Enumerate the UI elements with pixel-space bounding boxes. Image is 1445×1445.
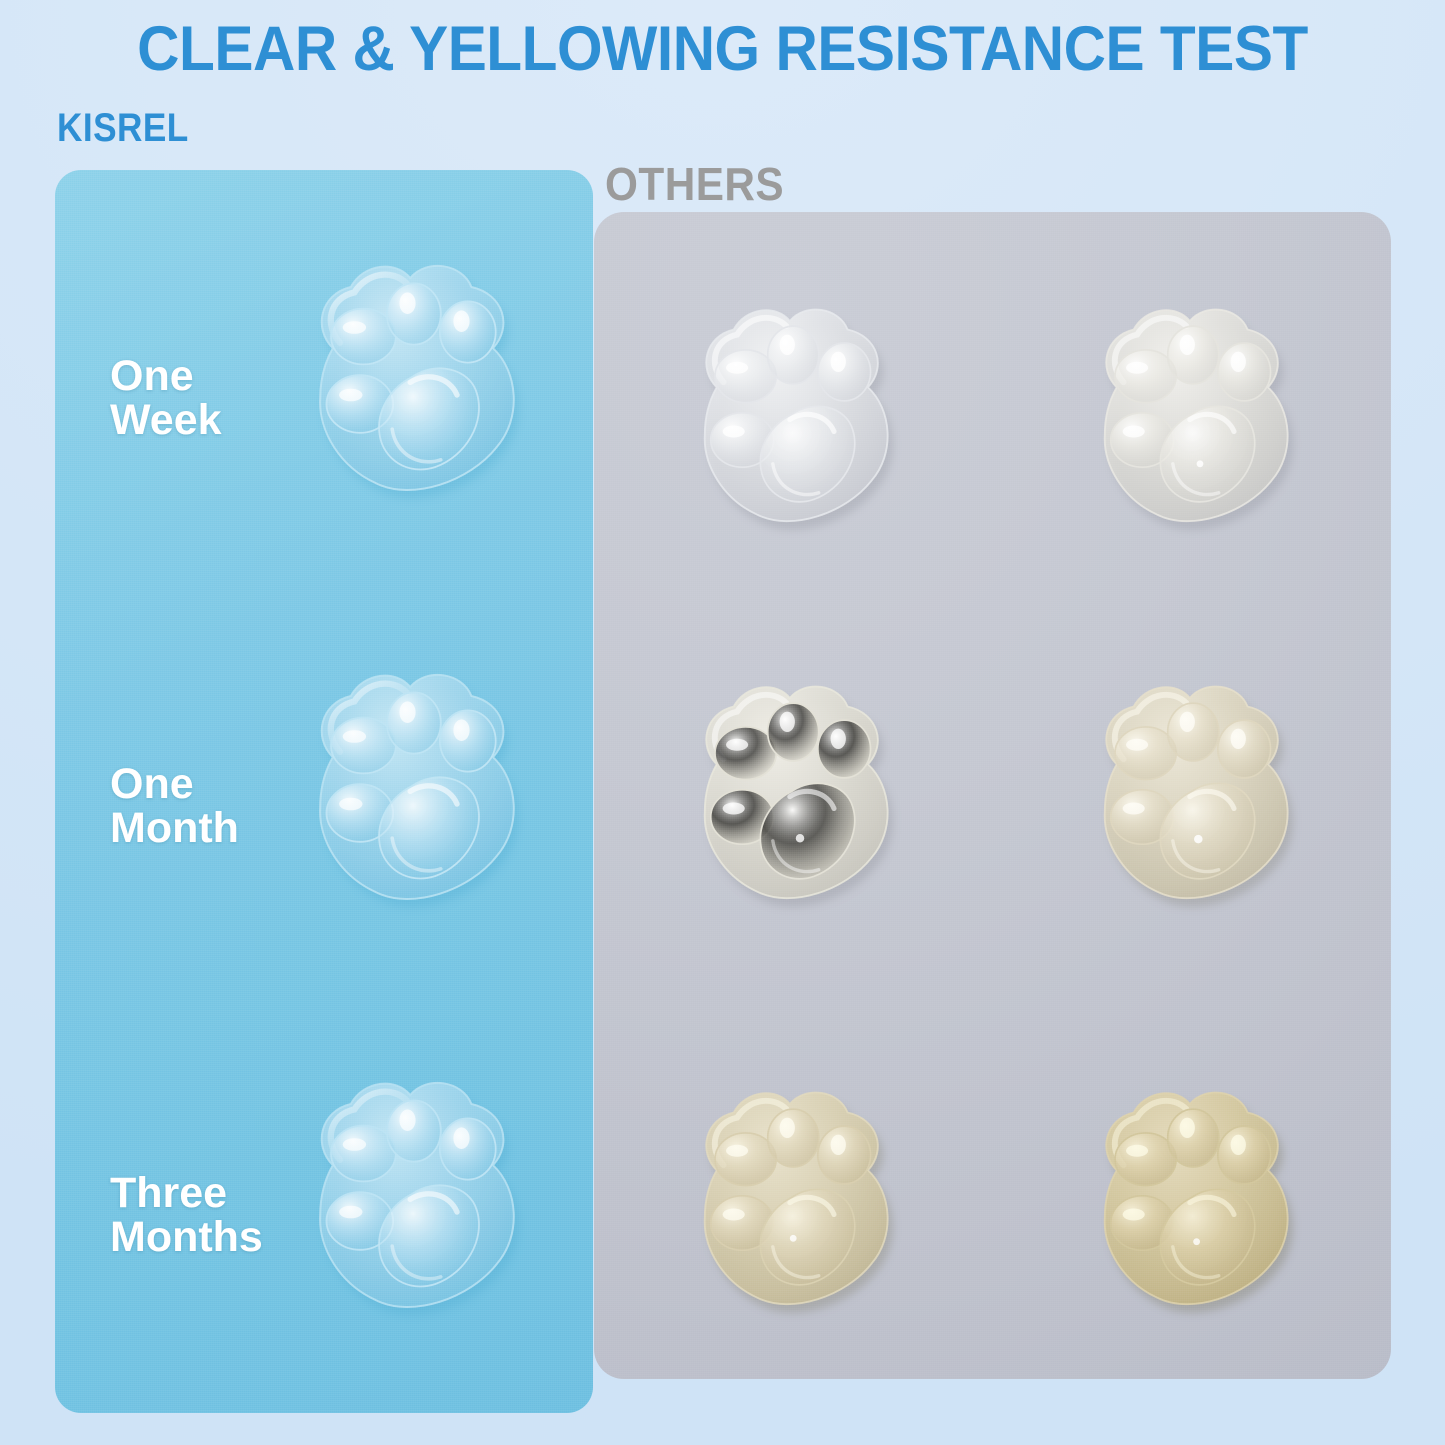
others-sample-three-months-2 [1064,1070,1319,1325]
kisrel-sample-one-week [277,242,547,512]
kisrel-sample-one-month [277,651,547,921]
kisrel-brand-label: KISREL [57,106,189,151]
others-sample-one-month-2 [1064,664,1319,919]
others-sample-one-week-1 [664,287,919,542]
row-label-three-months: Three Months [110,1172,263,1260]
row-label-one-week: One Week [110,355,222,443]
others-sample-three-months-1 [664,1070,919,1325]
kisrel-sample-three-months [277,1059,547,1329]
page-title: CLEAR & YELLOWING RESISTANCE TEST [51,18,1395,81]
others-brand-label: OTHERS [605,157,784,211]
others-sample-one-month-1 [664,664,919,919]
kisrel-panel: One Week One Month Three Months [55,170,593,1413]
row-label-one-month: One Month [110,763,239,851]
others-sample-one-week-2 [1064,287,1319,542]
others-panel [594,212,1391,1379]
